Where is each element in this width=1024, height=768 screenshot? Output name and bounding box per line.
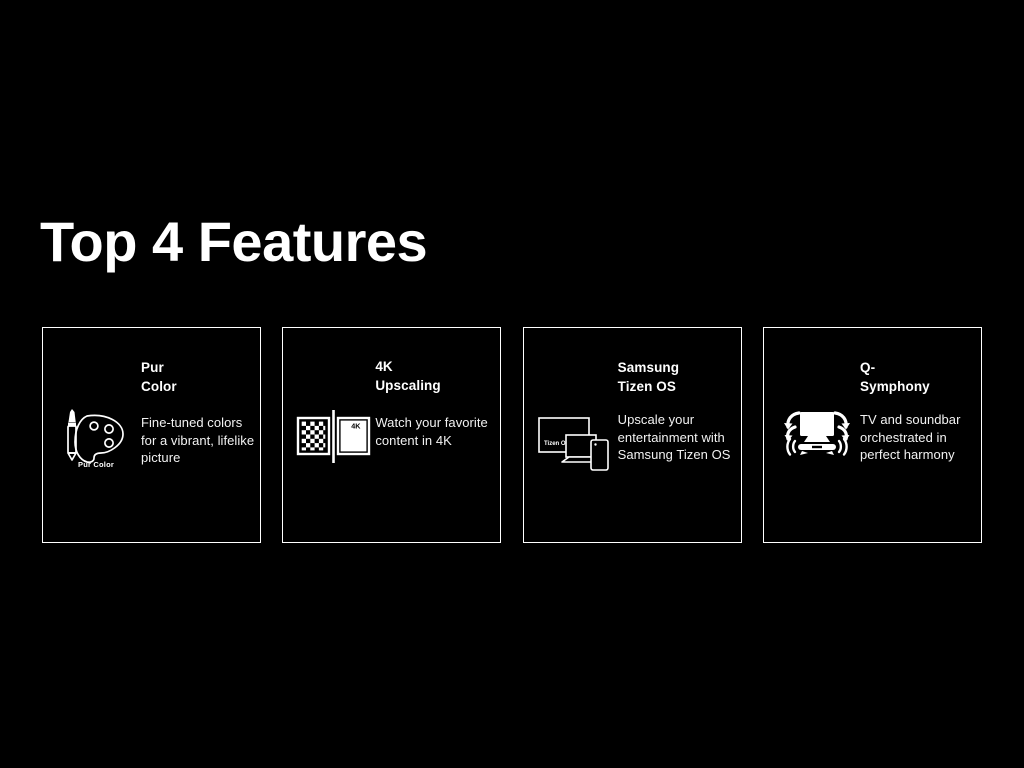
feature-card-title-line1: Q- bbox=[860, 358, 978, 377]
feature-card-title: Pur Color bbox=[141, 358, 253, 396]
svg-text:4K: 4K bbox=[352, 422, 362, 431]
feature-card-title: 4K Upscaling bbox=[375, 357, 495, 395]
multi-device-screens-icon: Tizen OS bbox=[536, 402, 614, 480]
feature-slide: Top 4 Features bbox=[0, 0, 1024, 768]
feature-card-title-line2: Color bbox=[141, 377, 253, 396]
feature-card-body: Fine-tuned colors for a vibrant, lifelik… bbox=[141, 414, 257, 467]
feature-card-title-line2: Symphony bbox=[860, 377, 978, 396]
feature-card-body: TV and soundbar orchestrated in perfect … bbox=[860, 411, 980, 464]
page-title: Top 4 Features bbox=[40, 212, 427, 272]
feature-card-body: Watch your favorite content in 4K bbox=[375, 414, 495, 449]
feature-card-title-line2: Upscaling bbox=[375, 376, 495, 395]
feature-card-title-line1: Samsung bbox=[618, 358, 738, 377]
feature-card-samsung-tizen-os[interactable]: Tizen OS Samsung Tizen OS Upscale your e… bbox=[523, 327, 742, 543]
feature-card-title-line2: Tizen OS bbox=[618, 377, 738, 396]
feature-card-body: Upscale your entertainment with Samsung … bbox=[618, 411, 742, 464]
feature-card-title-line1: 4K bbox=[375, 357, 495, 376]
paint-palette-icon: Pur Color bbox=[57, 398, 135, 476]
feature-card-title: Samsung Tizen OS bbox=[618, 358, 738, 396]
feature-card-title-line1: Pur bbox=[141, 358, 253, 377]
tv-soundbar-audio-icon bbox=[778, 396, 856, 474]
feature-card-row: Pur Color Pur Color Fine-tuned colors fo… bbox=[42, 327, 982, 543]
feature-card-title: Q- Symphony bbox=[860, 358, 978, 396]
feature-card-4k-upscaling[interactable]: 4K 4K Upscaling Watch your favorite cont… bbox=[282, 327, 501, 543]
feature-card-q-symphony[interactable]: Q- Symphony TV and soundbar orchestrated… bbox=[763, 327, 982, 543]
paint-palette-icon-caption: Pur Color bbox=[57, 460, 135, 469]
feature-card-pur-color[interactable]: Pur Color Pur Color Fine-tuned colors fo… bbox=[42, 327, 261, 543]
pixel-to-4k-comparison-icon: 4K bbox=[295, 398, 373, 476]
